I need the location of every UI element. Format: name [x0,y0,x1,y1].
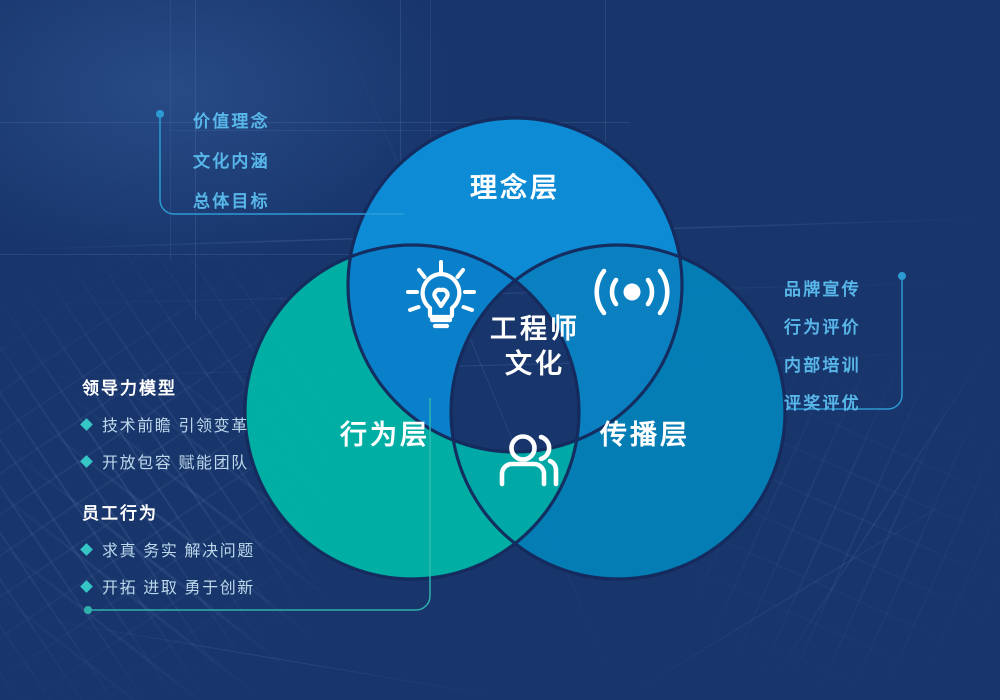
annotation-bullet-item: 开拓 进取 勇于创新 [82,574,382,598]
annotation-group-heading: 员工行为 [82,499,382,524]
annotation-item: 价值理念 [193,107,270,132]
annotation-item: 行为评价 [784,313,861,338]
annotation-bullet-item: 技术前瞻 引领变革 [82,412,382,436]
center-title-line-1: 工程师 [455,312,615,347]
annotation-top-left: 价值理念 文化内涵 总体目标 [193,107,270,227]
diamond-bullet-icon [80,580,93,593]
annotation-item: 总体目标 [193,187,270,212]
center-title-line-2: 文化 [455,347,615,382]
annotation-item: 内部培训 [784,351,861,376]
annotation-group-heading: 领导力模型 [82,374,382,399]
group-spacer [82,486,382,499]
annotation-bullet-label: 技术前瞻 引领变革 [102,412,249,436]
annotation-bullet-label: 开拓 进取 勇于创新 [102,574,255,598]
annotation-item: 品牌宣传 [784,275,861,300]
venn-label-right: 传播层 [560,413,730,452]
annotation-bullet-label: 开放包容 赋能团队 [102,449,249,473]
diamond-bullet-icon [80,543,93,556]
annotation-bottom-left: 领导力模型 技术前瞻 引领变革 开放包容 赋能团队 员工行为 求真 务实 解决问… [82,374,382,611]
annotation-bullet-label: 求真 务实 解决问题 [102,537,255,561]
annotation-item: 文化内涵 [193,147,270,172]
annotation-bullet-item: 求真 务实 解决问题 [82,537,382,561]
venn-label-top: 理念层 [430,166,600,205]
annotation-bullet-item: 开放包容 赋能团队 [82,449,382,473]
venn-center-title: 工程师 文化 [455,312,615,381]
annotation-item: 评奖评优 [784,389,861,414]
diamond-bullet-icon [80,455,93,468]
diamond-bullet-icon [80,418,93,431]
annotation-right: 品牌宣传 行为评价 内部培训 评奖评优 [784,275,861,427]
infographic-canvas: 理念层 行为层 传播层 工程师 文化 价值理念 文化内涵 总体目标 品牌宣传 行… [0,0,1000,700]
